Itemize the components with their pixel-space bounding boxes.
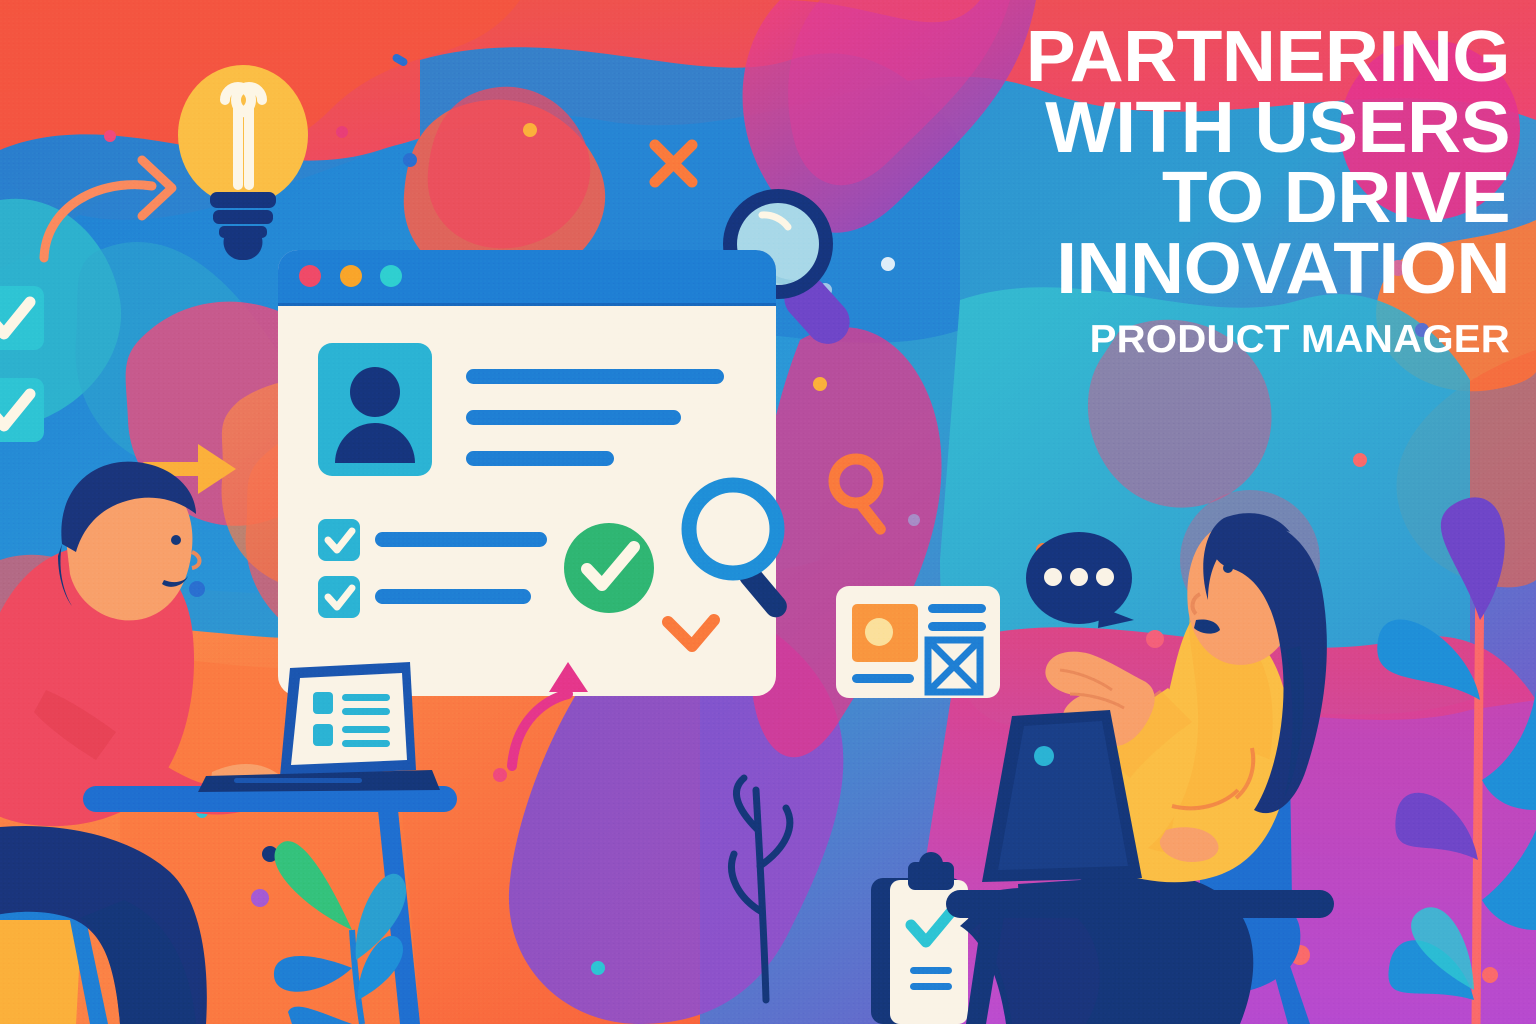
poster-canvas: PARTNERING WITH USERS TO DRIVE INNOVATIO…: [0, 0, 1536, 1024]
person-right-product-manager: [946, 513, 1334, 1024]
people-layer: [0, 0, 1536, 1024]
